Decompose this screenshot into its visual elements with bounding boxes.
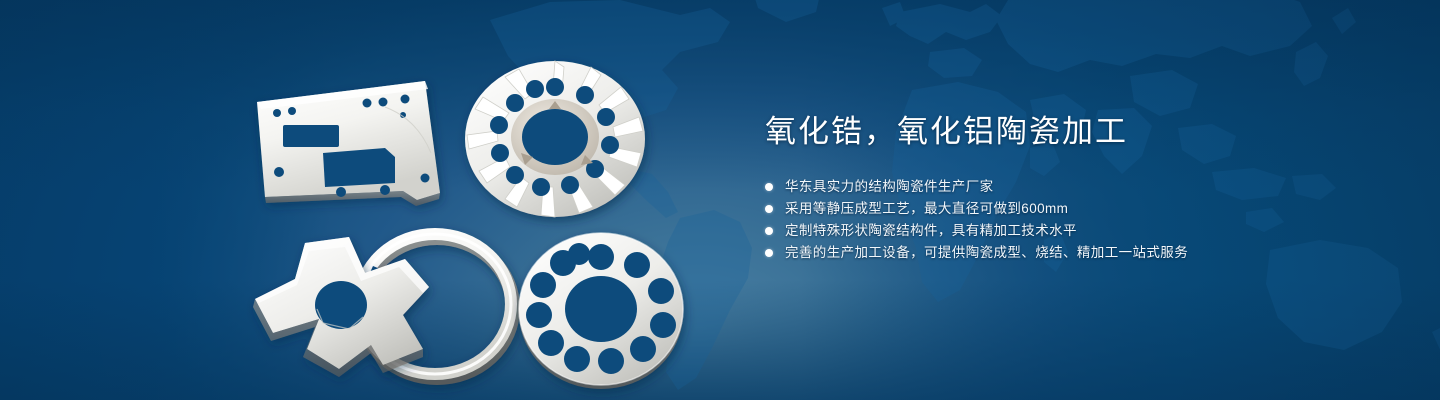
feature-item: 采用等静压成型工艺，最大直径可做到600mm [765,198,1405,220]
feature-item: 完善的生产加工设备，可提供陶瓷成型、烧结、精加工一站式服务 [765,242,1405,264]
banner-text-column: 氧化锆，氧化铝陶瓷加工 华东具实力的结构陶瓷件生产厂家 采用等静压成型工艺，最大… [765,112,1405,264]
ceramic-cross-part [253,237,429,377]
ceramic-plate-part [257,81,440,206]
feature-item: 华东具实力的结构陶瓷件生产厂家 [765,176,1405,198]
bullet-dot-icon [765,183,773,191]
banner-headline: 氧化锆，氧化铝陶瓷加工 [765,112,1405,152]
ceramic-impeller-part [465,61,645,217]
ceramic-products-image [235,45,715,385]
promo-banner: 氧化锆，氧化铝陶瓷加工 华东具实力的结构陶瓷件生产厂家 采用等静压成型工艺，最大… [0,0,1440,400]
bullet-dot-icon [765,227,773,235]
bullet-dot-icon [765,249,773,257]
ceramic-perforated-disc-part [519,233,683,389]
feature-text: 完善的生产加工设备，可提供陶瓷成型、烧结、精加工一站式服务 [785,245,1188,260]
feature-text: 定制特殊形状陶瓷结构件，具有精加工技术水平 [785,223,1077,238]
feature-list: 华东具实力的结构陶瓷件生产厂家 采用等静压成型工艺，最大直径可做到600mm 定… [765,176,1405,264]
feature-text: 华东具实力的结构陶瓷件生产厂家 [785,179,994,194]
bullet-dot-icon [765,205,773,213]
feature-text: 采用等静压成型工艺，最大直径可做到600mm [785,201,1068,216]
feature-item: 定制特殊形状陶瓷结构件，具有精加工技术水平 [765,220,1405,242]
